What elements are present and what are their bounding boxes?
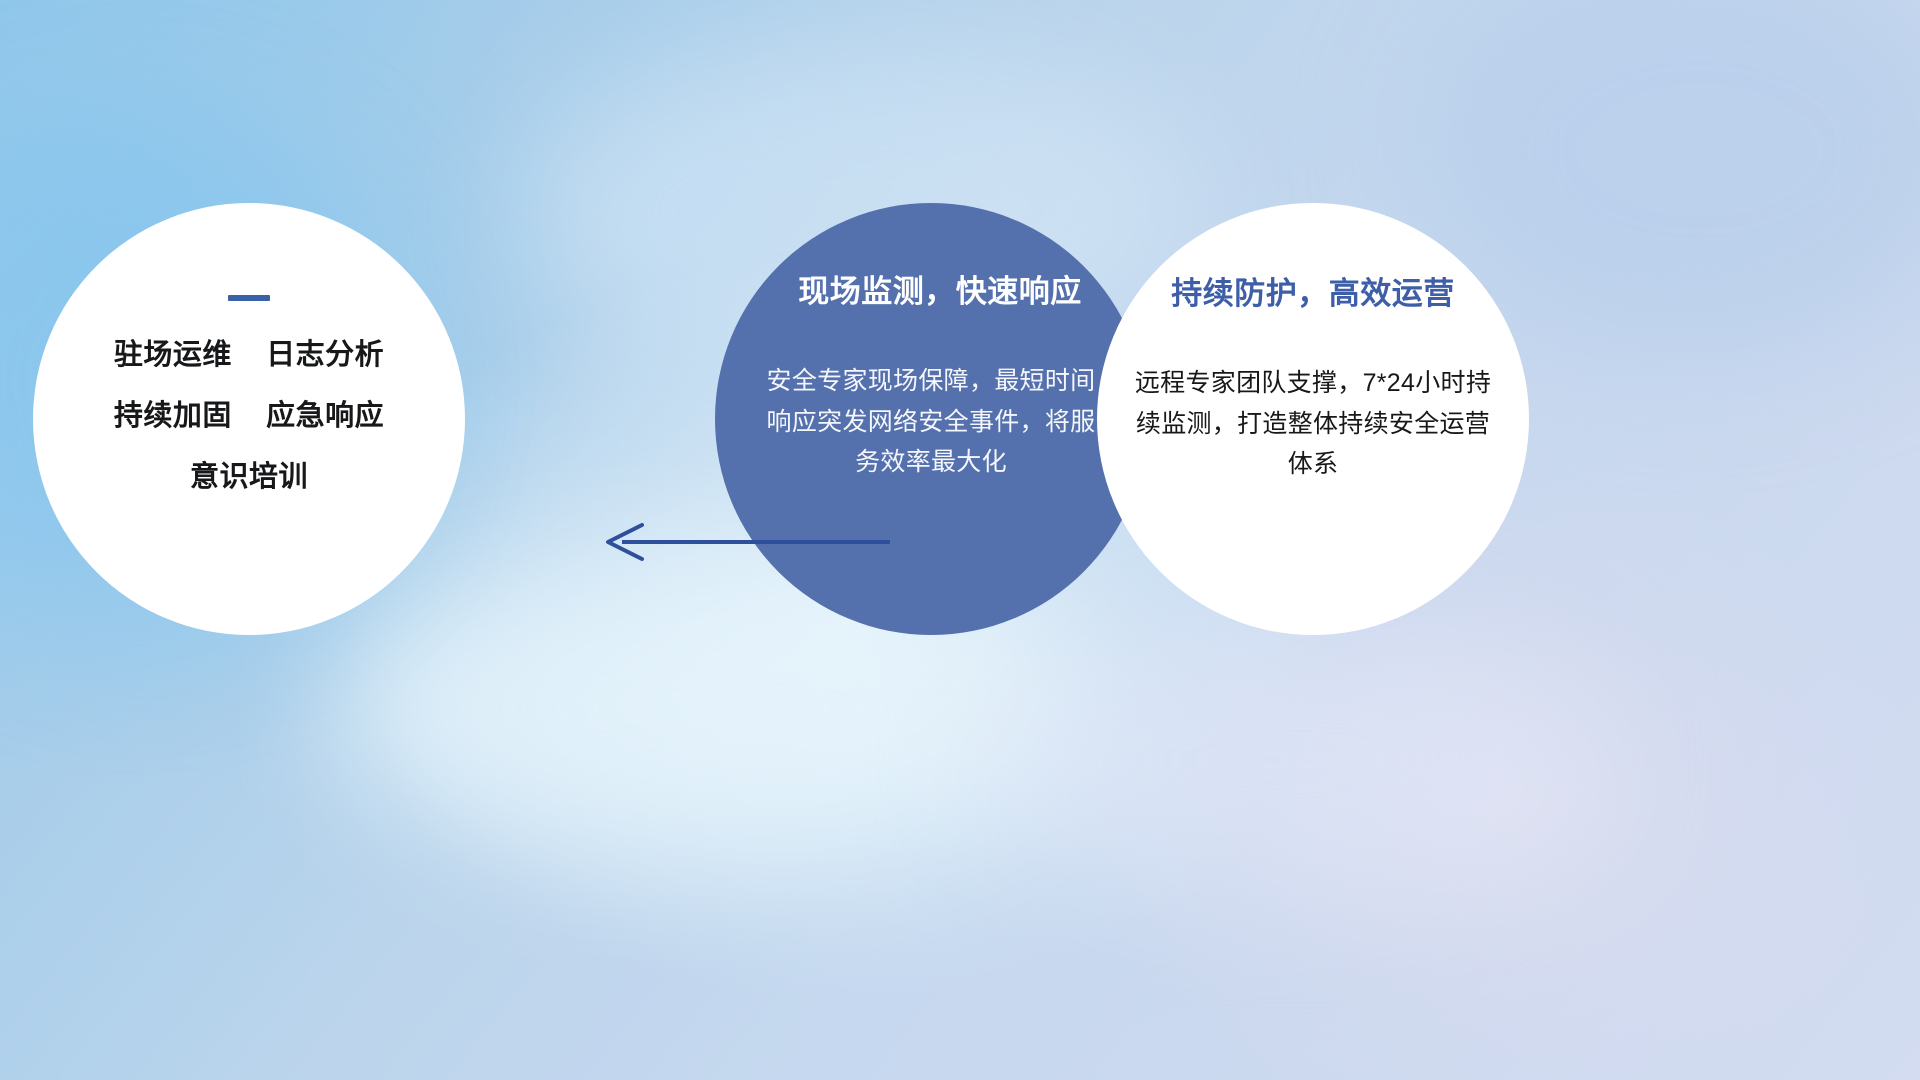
- capability-line-2: 持续加固 应急响应: [33, 402, 465, 431]
- capability-circle-left[interactable]: 驻场运维 日志分析 持续加固 应急响应 意识培训: [33, 203, 465, 635]
- right-circle-title: 持续防护，高效运营: [1097, 277, 1529, 311]
- arrow-left-icon: [600, 512, 890, 572]
- right-circle-content: 持续防护，高效运营 远程专家团队支撑，7*24小时持续监测，打造整体持续安全运营…: [1097, 277, 1529, 485]
- capability-circle-right[interactable]: 持续防护，高效运营 远程专家团队支撑，7*24小时持续监测，打造整体持续安全运营…: [1097, 203, 1529, 635]
- background-glow-right: [980, 620, 1600, 900]
- capability-line-3: 意识培训: [33, 463, 465, 492]
- middle-circle-body: 安全专家现场保障，最短时间响应突发网络安全事件，将服务效率最大化: [719, 361, 1143, 483]
- left-circle-content: 驻场运维 日志分析 持续加固 应急响应 意识培训: [33, 295, 465, 492]
- capability-line-1: 驻场运维 日志分析: [33, 341, 465, 370]
- middle-circle-content: 现场监测，快速响应 安全专家现场保障，最短时间响应突发网络安全事件，将服务效率最…: [715, 275, 1147, 483]
- slide-canvas: 驻场运维 日志分析 持续加固 应急响应 意识培训 现场监测，快速响应 安全专家现…: [0, 0, 1920, 1080]
- middle-circle-title: 现场监测，快速响应: [737, 275, 1143, 309]
- right-circle-body: 远程专家团队支撑，7*24小时持续监测，打造整体持续安全运营体系: [1097, 363, 1529, 485]
- connector-arrow: [600, 512, 890, 572]
- dash-accent-icon: [228, 295, 270, 301]
